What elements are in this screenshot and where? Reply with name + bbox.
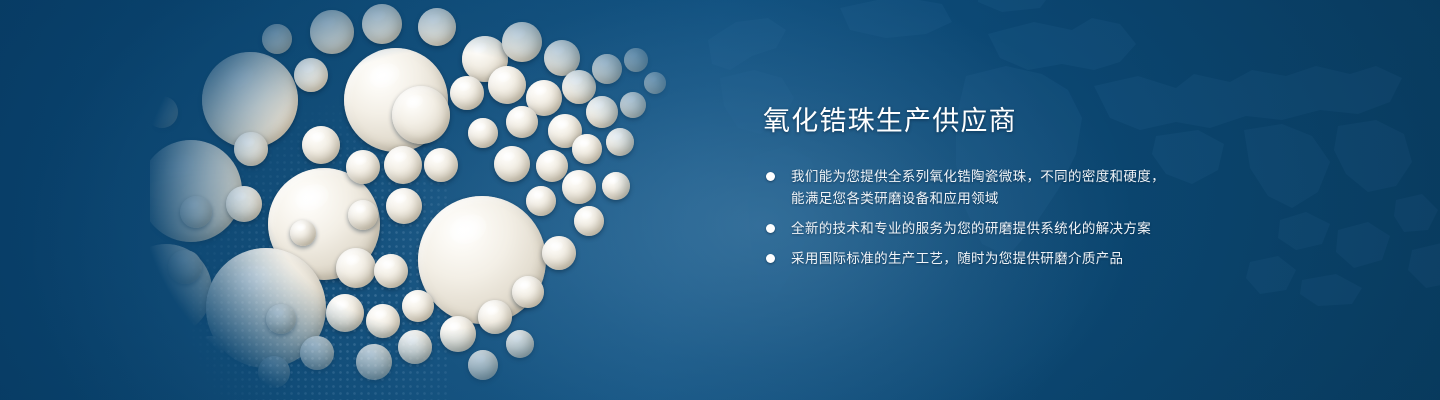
list-item: 采用国际标准的生产工艺，随时为您提供研磨介质产品 bbox=[763, 248, 1233, 269]
banner-text-block: 氧化锆珠生产供应商 我们能为您提供全系列氧化锆陶瓷微珠，不同的密度和硬度， 能满… bbox=[763, 104, 1233, 269]
list-item-line: 采用国际标准的生产工艺，随时为您提供研磨介质产品 bbox=[791, 248, 1233, 269]
hero-banner: 氧化锆珠生产供应商 我们能为您提供全系列氧化锆陶瓷微珠，不同的密度和硬度， 能满… bbox=[0, 0, 1440, 400]
list-item-line: 我们能为您提供全系列氧化锆陶瓷微珠，不同的密度和硬度， bbox=[791, 166, 1233, 187]
list-item-line: 能满足您各类研磨设备和应用领域 bbox=[791, 188, 1233, 209]
bullet-dot-icon bbox=[766, 172, 775, 181]
banner-feature-list: 我们能为您提供全系列氧化锆陶瓷微珠，不同的密度和硬度， 能满足您各类研磨设备和应… bbox=[763, 166, 1233, 269]
bullet-dot-icon bbox=[766, 224, 775, 233]
list-item-line: 全新的技术和专业的服务为您的研磨提供系统化的解决方案 bbox=[791, 218, 1233, 239]
list-item: 我们能为您提供全系列氧化锆陶瓷微珠，不同的密度和硬度， 能满足您各类研磨设备和应… bbox=[763, 166, 1233, 209]
list-item: 全新的技术和专业的服务为您的研磨提供系统化的解决方案 bbox=[763, 218, 1233, 239]
bullet-dot-icon bbox=[766, 254, 775, 263]
banner-title: 氧化锆珠生产供应商 bbox=[763, 104, 1233, 138]
